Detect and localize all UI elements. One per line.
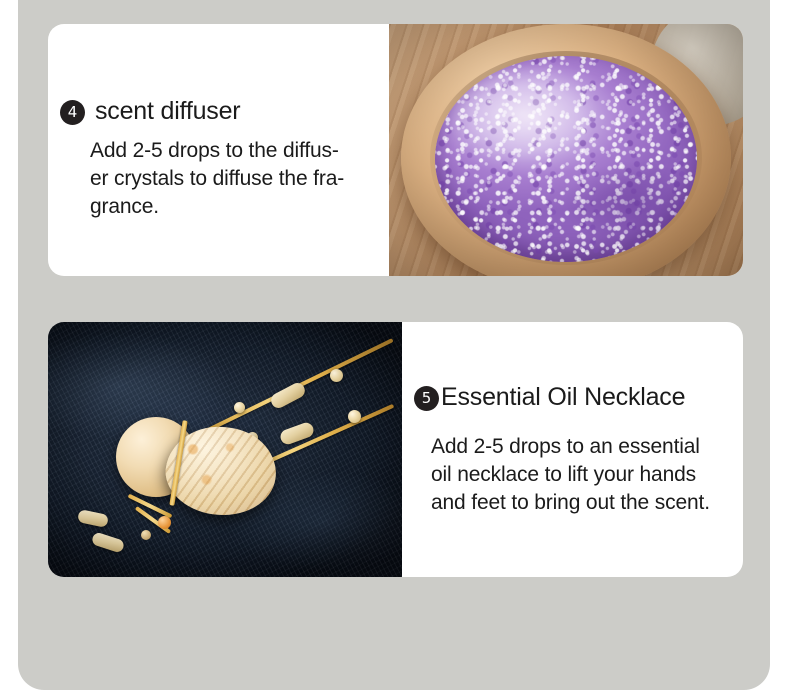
step-number-badge-5: 5: [414, 386, 439, 411]
instruction-card-5[interactable]: 5 Essential Oil Necklace Add 2-5 drops t…: [48, 322, 743, 577]
small-dangle-bead: [141, 530, 151, 540]
jade-bead-1: [330, 369, 343, 382]
step-number-badge-4: 4: [60, 100, 85, 125]
purple-bath-salt-crystals-in-wooden-bowl-image: [389, 24, 743, 276]
card-5-photo: [48, 322, 402, 577]
jade-gourd-essential-oil-necklace-image: [48, 322, 402, 577]
card-4-heading: 4 scent diffuser: [60, 97, 240, 126]
orange-dangle-bead: [158, 516, 171, 529]
card-4-text-column: 4 scent diffuser Add 2-5 drops to the di…: [48, 24, 389, 276]
card-4-description: Add 2-5 drops to the diffus- er crystals…: [90, 137, 390, 221]
card-5-text-column: 5 Essential Oil Necklace Add 2-5 drops t…: [402, 322, 743, 577]
page-root: 4 scent diffuser Add 2-5 drops to the di…: [0, 0, 790, 698]
card-4-photo: [389, 24, 743, 276]
card-5-title: Essential Oil Necklace: [441, 383, 685, 412]
instruction-card-4[interactable]: 4 scent diffuser Add 2-5 drops to the di…: [48, 24, 743, 276]
card-5-description: Add 2-5 drops to an essential oil neckla…: [431, 433, 743, 517]
card-5-heading: 5 Essential Oil Necklace: [414, 383, 685, 412]
purple-crystals-mound: [435, 56, 697, 262]
jade-bead-2: [348, 410, 361, 423]
card-4-title: scent diffuser: [95, 97, 240, 126]
jade-bead-3: [234, 402, 245, 413]
